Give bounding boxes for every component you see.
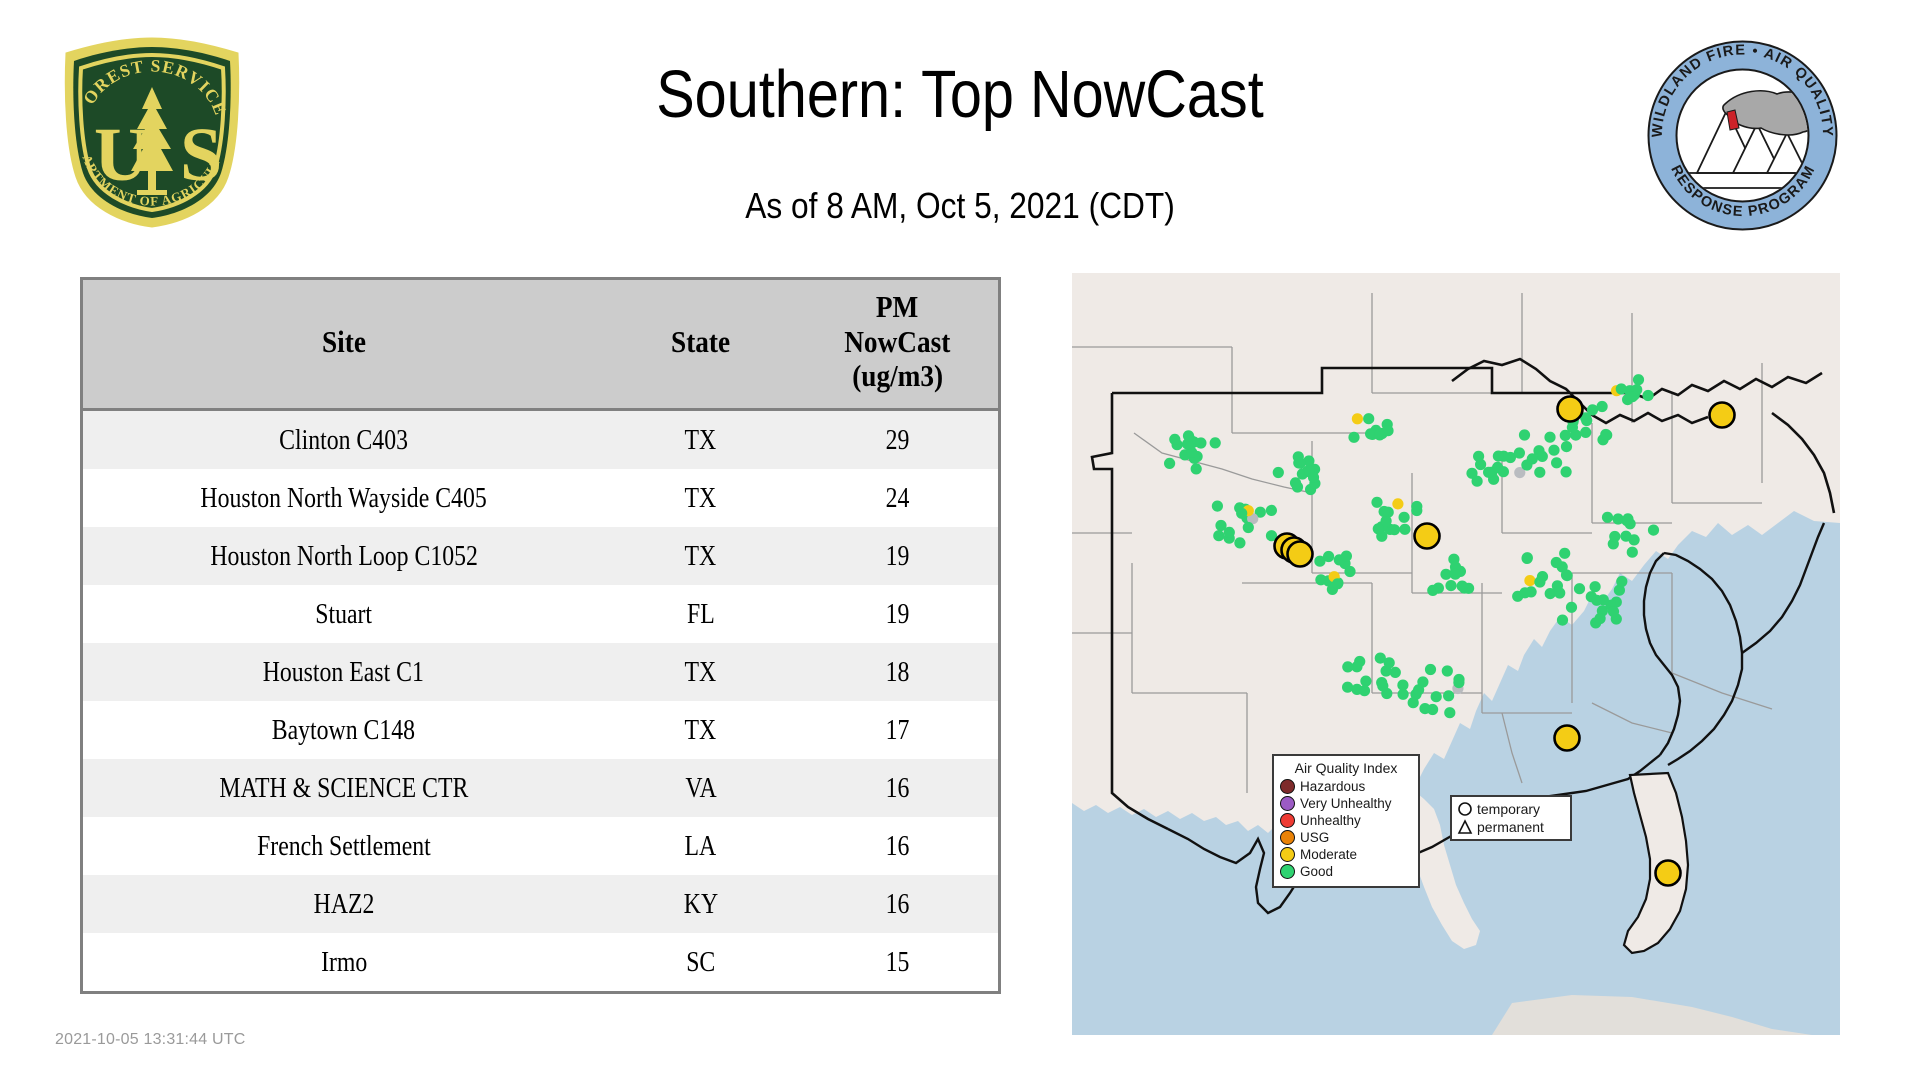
- pm-cell: 29: [797, 410, 998, 470]
- monitor-dot[interactable]: [1308, 472, 1319, 483]
- table-header-row: Site State PM NowCast (ug/m3): [83, 280, 998, 410]
- top-site-marker[interactable]: [1710, 403, 1735, 428]
- monitor-dot[interactable]: [1224, 527, 1235, 538]
- pm-cell-text: 15: [885, 946, 909, 979]
- top-site-marker[interactable]: [1415, 524, 1440, 549]
- site-cell-text: French Settlement: [257, 830, 431, 863]
- monitor-dot[interactable]: [1295, 458, 1306, 469]
- top-nowcast-table: Site State PM NowCast (ug/m3) Clinton C4…: [80, 277, 1001, 994]
- state-cell: LA: [605, 817, 797, 875]
- pm-cell-text: 16: [885, 888, 909, 921]
- monitor-dot[interactable]: [1442, 665, 1453, 676]
- pm-cell-text: 19: [885, 540, 909, 573]
- monitor-dot[interactable]: [1620, 531, 1631, 542]
- monitor-dot[interactable]: [1473, 451, 1484, 462]
- monitor-dot[interactable]: [1519, 587, 1530, 598]
- monitor-dot[interactable]: [1332, 578, 1343, 589]
- monitor-dot[interactable]: [1352, 413, 1363, 424]
- table-row: Houston East C1TX18: [83, 643, 998, 701]
- table-row: Clinton C403TX29: [83, 410, 998, 470]
- monitor-dot[interactable]: [1399, 512, 1410, 523]
- pm-cell-text: 18: [885, 656, 909, 689]
- aqi-swatch-icon: [1280, 847, 1295, 862]
- monitor-dot[interactable]: [1450, 569, 1461, 580]
- top-site-marker[interactable]: [1558, 397, 1583, 422]
- monitor-dot[interactable]: [1427, 585, 1438, 596]
- table-row: IrmoSC15: [83, 933, 998, 991]
- state-cell: TX: [605, 643, 797, 701]
- monitor-dot[interactable]: [1574, 583, 1585, 594]
- aqi-legend-label: Unhealthy: [1300, 814, 1361, 827]
- monitor-dot[interactable]: [1389, 524, 1400, 535]
- monitor-dot[interactable]: [1627, 547, 1638, 558]
- monitor-dot[interactable]: [1290, 477, 1301, 488]
- aqi-swatch-icon: [1280, 779, 1295, 794]
- monitor-dot[interactable]: [1210, 437, 1221, 448]
- map-canvas[interactable]: [1072, 273, 1840, 1035]
- monitor-dot[interactable]: [1408, 697, 1419, 708]
- monitor-dot[interactable]: [1466, 468, 1477, 479]
- site-cell-text: Clinton C403: [279, 424, 408, 457]
- pm-cell-text: 29: [885, 424, 909, 457]
- page-title: Southern: Top NowCast: [530, 60, 1390, 130]
- aqi-legend-row: USG: [1280, 829, 1412, 846]
- aqi-legend-label: Moderate: [1300, 848, 1357, 861]
- top-site-marker[interactable]: [1656, 861, 1681, 886]
- monitor-dot[interactable]: [1273, 467, 1284, 478]
- pm-cell: 16: [797, 875, 998, 933]
- monitor-dot[interactable]: [1236, 508, 1247, 519]
- monitor-dot[interactable]: [1212, 501, 1223, 512]
- monitor-dot[interactable]: [1633, 374, 1644, 385]
- aqi-legend: Air Quality Index HazardousVery Unhealth…: [1272, 754, 1420, 888]
- site-cell-text: HAZ2: [313, 888, 374, 921]
- site-cell: Houston North Loop C1052: [83, 527, 605, 585]
- table-row: HAZ2KY16: [83, 875, 998, 933]
- pm-cell: 19: [797, 585, 998, 643]
- site-cell: HAZ2: [83, 875, 605, 933]
- monitor-dot[interactable]: [1397, 680, 1408, 691]
- aqi-legend-row: Moderate: [1280, 846, 1412, 863]
- monitor-dot[interactable]: [1453, 674, 1464, 685]
- monitor-dot[interactable]: [1363, 413, 1374, 424]
- column-header-site: Site: [83, 280, 605, 410]
- monitor-dot[interactable]: [1417, 676, 1428, 687]
- monitor-dot[interactable]: [1527, 453, 1538, 464]
- monitor-dot[interactable]: [1548, 445, 1559, 456]
- top-site-marker[interactable]: [1288, 542, 1313, 567]
- table-row: Baytown C148TX17: [83, 701, 998, 759]
- pm-cell-text: 16: [885, 830, 909, 863]
- monitor-dot[interactable]: [1522, 552, 1533, 563]
- monitor-dot[interactable]: [1597, 401, 1608, 412]
- monitor-dot[interactable]: [1443, 690, 1454, 701]
- state-cell: TX: [605, 469, 797, 527]
- site-cell-text: Irmo: [321, 946, 367, 979]
- monitor-dot[interactable]: [1561, 441, 1572, 452]
- monitor-dot[interactable]: [1600, 429, 1611, 440]
- monitor-dot[interactable]: [1445, 580, 1456, 591]
- state-cell-text: TX: [685, 424, 717, 457]
- pm-cell: 16: [797, 817, 998, 875]
- state-cell: VA: [605, 759, 797, 817]
- aqi-swatch-icon: [1280, 813, 1295, 828]
- aqi-legend-label: Good: [1300, 865, 1333, 878]
- site-cell-text: Stuart: [315, 598, 372, 631]
- table-row: StuartFL19: [83, 585, 998, 643]
- monitor-dot[interactable]: [1590, 581, 1601, 592]
- aqi-swatch-icon: [1280, 830, 1295, 845]
- site-cell: Houston East C1: [83, 643, 605, 701]
- monitor-dot[interactable]: [1195, 437, 1206, 448]
- pm-cell: 24: [797, 469, 998, 527]
- monitor-dot[interactable]: [1164, 458, 1175, 469]
- monitor-dot[interactable]: [1431, 691, 1442, 702]
- monitor-dot[interactable]: [1557, 615, 1568, 626]
- site-cell: Stuart: [83, 585, 605, 643]
- column-header-pm-nowcast: PM NowCast (ug/m3): [797, 280, 998, 410]
- monitor-dot[interactable]: [1616, 576, 1627, 587]
- state-cell: TX: [605, 701, 797, 759]
- monitor-dot[interactable]: [1498, 466, 1509, 477]
- monitor-dot[interactable]: [1595, 613, 1606, 624]
- wfaqrp-logo: WILDLAND FIRE • AIR QUALITY RESPONSE PRO…: [1645, 38, 1840, 233]
- monitor-dot[interactable]: [1616, 383, 1627, 394]
- monitor-dot[interactable]: [1384, 657, 1395, 668]
- monitor-dot[interactable]: [1534, 467, 1545, 478]
- pm-cell-text: 19: [885, 598, 909, 631]
- monitor-dot[interactable]: [1444, 707, 1455, 718]
- monitor-dot[interactable]: [1342, 682, 1353, 693]
- aqi-legend-label: Hazardous: [1300, 780, 1365, 793]
- aqi-legend-label: USG: [1300, 831, 1329, 844]
- monitor-dot[interactable]: [1266, 505, 1277, 516]
- state-cell: TX: [605, 410, 797, 470]
- monitor-dot[interactable]: [1234, 537, 1245, 548]
- monitor-dot[interactable]: [1561, 466, 1572, 477]
- state-cell-text: TX: [685, 714, 717, 747]
- site-type-legend: temporary permanent: [1450, 795, 1572, 841]
- column-header-state: State: [605, 280, 797, 410]
- aqi-legend-row: Unhealthy: [1280, 812, 1412, 829]
- monitor-dot[interactable]: [1591, 595, 1602, 606]
- legend-row-temporary: temporary: [1457, 800, 1565, 818]
- monitor-dot[interactable]: [1373, 523, 1384, 534]
- site-cell-text: Houston North Loop C1052: [210, 540, 478, 573]
- monitor-dot[interactable]: [1519, 429, 1530, 440]
- site-cell: Houston North Wayside C405: [83, 469, 605, 527]
- monitor-dot[interactable]: [1348, 432, 1359, 443]
- monitor-dot[interactable]: [1360, 676, 1371, 687]
- aqi-legend-row: Hazardous: [1280, 778, 1412, 795]
- monitor-dot[interactable]: [1399, 524, 1410, 535]
- monitor-dot[interactable]: [1609, 531, 1620, 542]
- pm-cell: 17: [797, 701, 998, 759]
- state-cell: TX: [605, 527, 797, 585]
- monitor-dot[interactable]: [1544, 432, 1555, 443]
- monitor-dot[interactable]: [1323, 551, 1334, 562]
- table-row: MATH & SCIENCE CTRVA16: [83, 759, 998, 817]
- monitor-dot[interactable]: [1341, 551, 1352, 562]
- monitor-dot[interactable]: [1191, 463, 1202, 474]
- monitor-dot[interactable]: [1643, 390, 1654, 401]
- footer-timestamp: 2021-10-05 13:31:44 UTC: [55, 1031, 246, 1049]
- site-cell: MATH & SCIENCE CTR: [83, 759, 605, 817]
- pm-cell-text: 24: [885, 482, 909, 515]
- monitor-dot[interactable]: [1169, 434, 1180, 445]
- triangle-icon: [1457, 819, 1473, 835]
- state-cell-text: TX: [685, 482, 717, 515]
- site-cell-text: Baytown C148: [272, 714, 415, 747]
- monitor-dot[interactable]: [1425, 664, 1436, 675]
- pm-cell: 18: [797, 643, 998, 701]
- state-cell: KY: [605, 875, 797, 933]
- monitor-dot[interactable]: [1559, 548, 1570, 559]
- circle-icon: [1457, 801, 1473, 817]
- site-cell: Baytown C148: [83, 701, 605, 759]
- state-cell-text: TX: [685, 540, 717, 573]
- monitor-dot[interactable]: [1411, 501, 1422, 512]
- aqi-swatch-icon: [1280, 796, 1295, 811]
- monitor-dot[interactable]: [1537, 571, 1548, 582]
- monitor-dot[interactable]: [1608, 606, 1619, 617]
- monitor-dot[interactable]: [1457, 581, 1468, 592]
- aqi-legend-label: Very Unhealthy: [1300, 797, 1392, 810]
- top-site-marker[interactable]: [1555, 726, 1580, 751]
- monitor-dot[interactable]: [1483, 467, 1494, 478]
- legend-label-permanent: permanent: [1477, 819, 1544, 835]
- state-cell: FL: [605, 585, 797, 643]
- monitor-dot[interactable]: [1371, 497, 1382, 508]
- site-cell-text: Houston North Wayside C405: [201, 482, 487, 515]
- legend-row-permanent: permanent: [1457, 818, 1565, 836]
- table-row: French SettlementLA16: [83, 817, 998, 875]
- state-cell-text: FL: [687, 598, 715, 631]
- aqi-legend-row: Good: [1280, 863, 1412, 880]
- pm-cell: 15: [797, 933, 998, 991]
- site-cell-text: Houston East C1: [263, 656, 424, 689]
- monitor-dot[interactable]: [1344, 566, 1355, 577]
- aqi-swatch-icon: [1280, 864, 1295, 879]
- monitor-dot[interactable]: [1419, 703, 1430, 714]
- state-cell-text: SC: [686, 946, 715, 979]
- state-cell-text: KY: [683, 888, 717, 921]
- monitor-dot[interactable]: [1524, 575, 1535, 586]
- state-cell: SC: [605, 933, 797, 991]
- site-cell: Irmo: [83, 933, 605, 991]
- monitor-dot[interactable]: [1359, 685, 1370, 696]
- monitor-dot[interactable]: [1377, 680, 1388, 691]
- site-cell: Clinton C403: [83, 410, 605, 470]
- pm-cell-text: 16: [885, 772, 909, 805]
- monitor-dot[interactable]: [1493, 451, 1504, 462]
- monitor-dot[interactable]: [1514, 447, 1525, 458]
- table-row: Houston North Loop C1052TX19: [83, 527, 998, 585]
- legend-label-temporary: temporary: [1477, 801, 1540, 817]
- monitor-dot[interactable]: [1602, 512, 1613, 523]
- state-cell-text: VA: [685, 772, 716, 805]
- monitor-dot[interactable]: [1622, 513, 1633, 524]
- aqi-legend-row: Very Unhealthy: [1280, 795, 1412, 812]
- monitor-dot[interactable]: [1374, 429, 1385, 440]
- state-cell-text: LA: [685, 830, 717, 863]
- monitor-dot[interactable]: [1580, 427, 1591, 438]
- monitor-dot[interactable]: [1648, 525, 1659, 536]
- aqi-legend-title: Air Quality Index: [1280, 760, 1412, 776]
- monitor-dot[interactable]: [1342, 661, 1353, 672]
- monitor-dot[interactable]: [1213, 530, 1224, 541]
- monitor-dot[interactable]: [1315, 574, 1326, 585]
- monitor-dot[interactable]: [1551, 557, 1562, 568]
- site-cell-text: MATH & SCIENCE CTR: [219, 772, 468, 805]
- pm-cell: 16: [797, 759, 998, 817]
- air-quality-map[interactable]: Air Quality Index HazardousVery Unhealth…: [1072, 273, 1840, 1035]
- monitor-dot[interactable]: [1551, 457, 1562, 468]
- monitor-dot[interactable]: [1243, 522, 1254, 533]
- usda-forest-service-logo: FOREST SERVICE U S DEPARTMENT OF AGRICUL…: [52, 35, 252, 230]
- page-subtitle: As of 8 AM, Oct 5, 2021 (CDT): [520, 185, 1400, 227]
- monitor-dot[interactable]: [1537, 451, 1548, 462]
- monitor-dot[interactable]: [1625, 391, 1636, 402]
- table-row: Houston North Wayside C405TX24: [83, 469, 998, 527]
- pm-cell-text: 17: [885, 714, 909, 747]
- pm-cell: 19: [797, 527, 998, 585]
- monitor-dot[interactable]: [1392, 498, 1403, 509]
- monitor-dot[interactable]: [1566, 602, 1577, 613]
- site-cell: French Settlement: [83, 817, 605, 875]
- state-cell-text: TX: [685, 656, 717, 689]
- monitor-dot[interactable]: [1561, 569, 1572, 580]
- monitor-dot[interactable]: [1183, 430, 1194, 441]
- monitor-dot[interactable]: [1379, 506, 1390, 517]
- monitor-dot[interactable]: [1552, 580, 1563, 591]
